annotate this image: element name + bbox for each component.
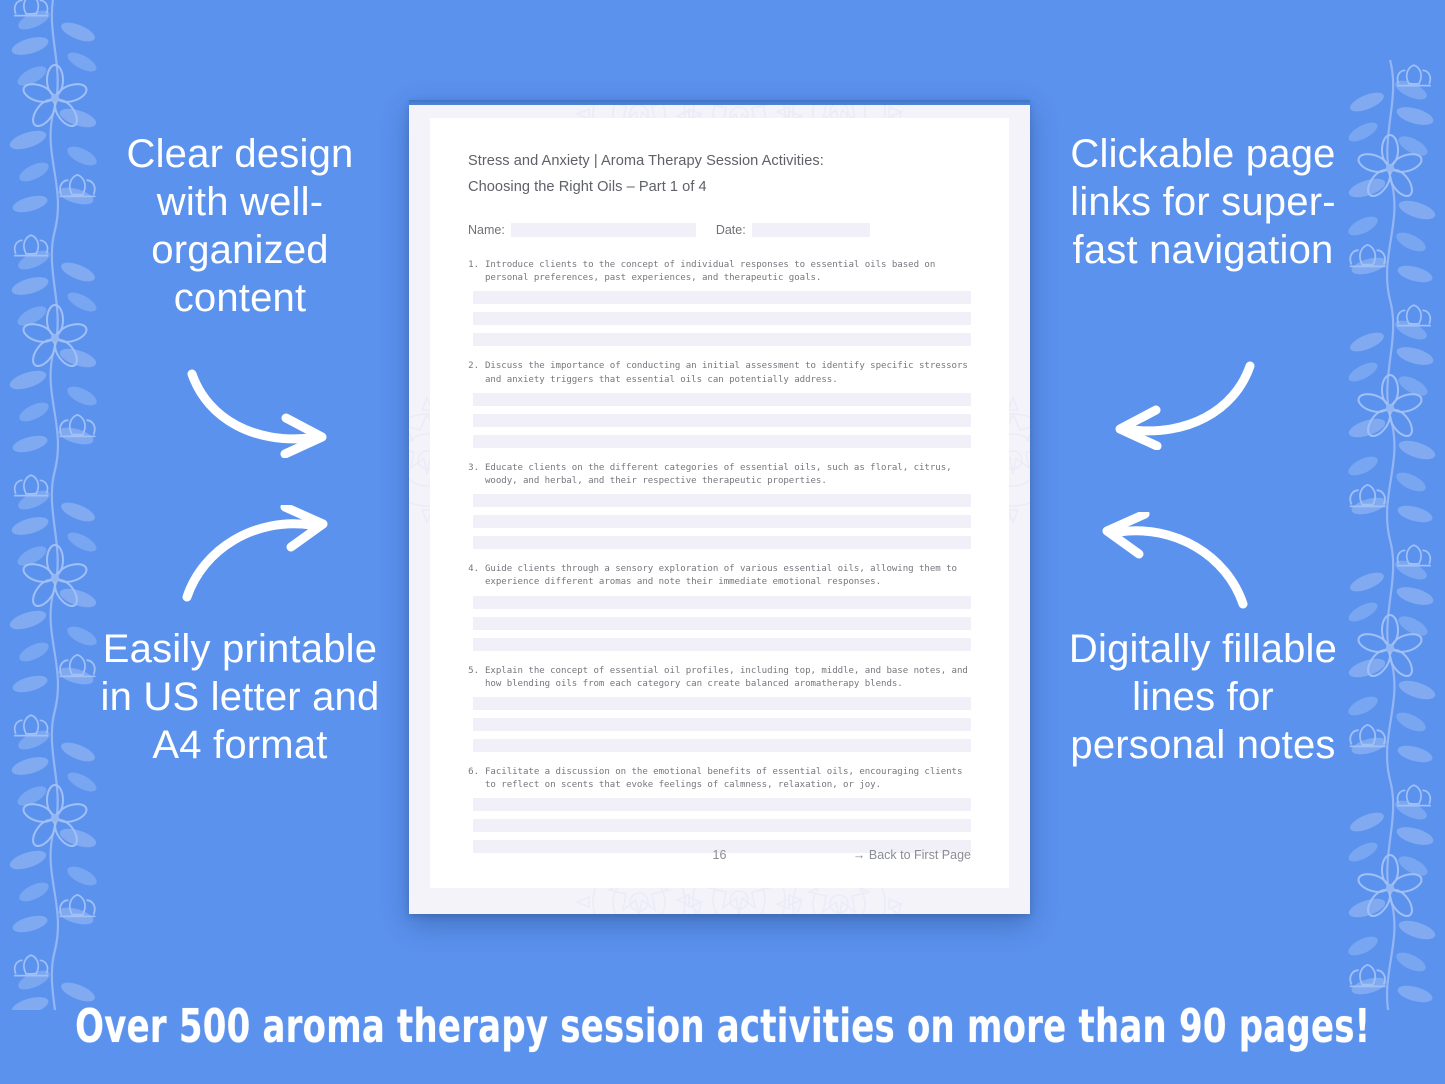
fill-line[interactable] bbox=[473, 697, 971, 710]
caption-fillable-lines: Digitally fillable lines for personal no… bbox=[1053, 625, 1353, 769]
arrow-curve-down-left-icon bbox=[1100, 360, 1260, 450]
fill-line[interactable] bbox=[473, 638, 971, 651]
fill-line[interactable] bbox=[473, 435, 971, 448]
arrow-curve-down-right-icon bbox=[182, 368, 342, 458]
activity-body: Explain the concept of essential oil pro… bbox=[485, 665, 971, 691]
fill-line[interactable] bbox=[473, 291, 971, 304]
fill-line[interactable] bbox=[473, 596, 971, 609]
activity-number: 4. bbox=[468, 563, 485, 589]
activity-number: 2. bbox=[468, 360, 485, 386]
activity-text-row: 4. Guide clients through a sensory explo… bbox=[468, 563, 971, 589]
activity-fill-lines bbox=[468, 798, 971, 853]
activity-fill-lines bbox=[468, 596, 971, 651]
fill-line[interactable] bbox=[473, 333, 971, 346]
page-number: 16 bbox=[468, 848, 971, 862]
name-input[interactable] bbox=[511, 223, 696, 237]
activity-item: 4. Guide clients through a sensory explo… bbox=[468, 563, 971, 650]
fill-line[interactable] bbox=[473, 536, 971, 549]
name-label: Name: bbox=[468, 223, 505, 237]
fill-line[interactable] bbox=[473, 393, 971, 406]
date-input[interactable] bbox=[752, 223, 870, 237]
activity-item: 5. Explain the concept of essential oil … bbox=[468, 665, 971, 752]
activity-fill-lines bbox=[468, 494, 971, 549]
activity-item: 6. Facilitate a discussion on the emotio… bbox=[468, 766, 971, 853]
fill-line[interactable] bbox=[473, 494, 971, 507]
caption-easily-printable: Easily printable in US letter and A4 for… bbox=[90, 625, 390, 769]
caption-clear-design: Clear design with well-organized content bbox=[90, 130, 390, 322]
activity-fill-lines bbox=[468, 697, 971, 752]
document-footer: 16 → Back to First Page bbox=[468, 848, 971, 862]
banner-headline: Over 500 aroma therapy session activitie… bbox=[75, 999, 1370, 1053]
fill-line[interactable] bbox=[473, 414, 971, 427]
activity-item: 2. Discuss the importance of conducting … bbox=[468, 360, 971, 447]
document-title-line-2: Choosing the Right Oils – Part 1 of 4 bbox=[468, 174, 971, 200]
activity-number: 6. bbox=[468, 766, 485, 792]
activity-text-row: 2. Discuss the importance of conducting … bbox=[468, 360, 971, 386]
activity-text-row: 5. Explain the concept of essential oil … bbox=[468, 665, 971, 691]
activity-number: 5. bbox=[468, 665, 485, 691]
document-title-line-1: Stress and Anxiety | Aroma Therapy Sessi… bbox=[468, 148, 971, 174]
activity-fill-lines bbox=[468, 393, 971, 448]
fill-line[interactable] bbox=[473, 515, 971, 528]
activity-list: 1. Introduce clients to the concept of i… bbox=[468, 259, 971, 853]
fill-line[interactable] bbox=[473, 739, 971, 752]
activity-number: 1. bbox=[468, 259, 485, 285]
name-date-row: Name: Date: bbox=[468, 223, 971, 237]
activity-body: Discuss the importance of conducting an … bbox=[485, 360, 971, 386]
date-label: Date: bbox=[716, 223, 746, 237]
arrow-curve-up-left-icon bbox=[1090, 512, 1255, 612]
activity-text-row: 1. Introduce clients to the concept of i… bbox=[468, 259, 971, 285]
document-preview-card[interactable]: Stress and Anxiety | Aroma Therapy Sessi… bbox=[409, 100, 1030, 914]
fill-line[interactable] bbox=[473, 798, 971, 811]
activity-number: 3. bbox=[468, 462, 485, 488]
fill-line[interactable] bbox=[473, 819, 971, 832]
activity-item: 3. Educate clients on the different cate… bbox=[468, 462, 971, 549]
activity-body: Introduce clients to the concept of indi… bbox=[485, 259, 971, 285]
fill-line[interactable] bbox=[473, 718, 971, 731]
fill-line[interactable] bbox=[473, 312, 971, 325]
activity-body: Facilitate a discussion on the emotional… bbox=[485, 766, 971, 792]
activity-text-row: 6. Facilitate a discussion on the emotio… bbox=[468, 766, 971, 792]
activity-text-row: 3. Educate clients on the different cate… bbox=[468, 462, 971, 488]
activity-body: Guide clients through a sensory explorat… bbox=[485, 563, 971, 589]
arrow-curve-up-right-icon bbox=[175, 505, 340, 605]
caption-clickable-links: Clickable page links for super-fast navi… bbox=[1053, 130, 1353, 274]
activity-body: Educate clients on the different categor… bbox=[485, 462, 971, 488]
activity-item: 1. Introduce clients to the concept of i… bbox=[468, 259, 971, 346]
document-page: Stress and Anxiety | Aroma Therapy Sessi… bbox=[430, 118, 1009, 888]
bottom-banner: Over 500 aroma therapy session activitie… bbox=[0, 968, 1445, 1084]
fill-line[interactable] bbox=[473, 617, 971, 630]
activity-fill-lines bbox=[468, 291, 971, 346]
